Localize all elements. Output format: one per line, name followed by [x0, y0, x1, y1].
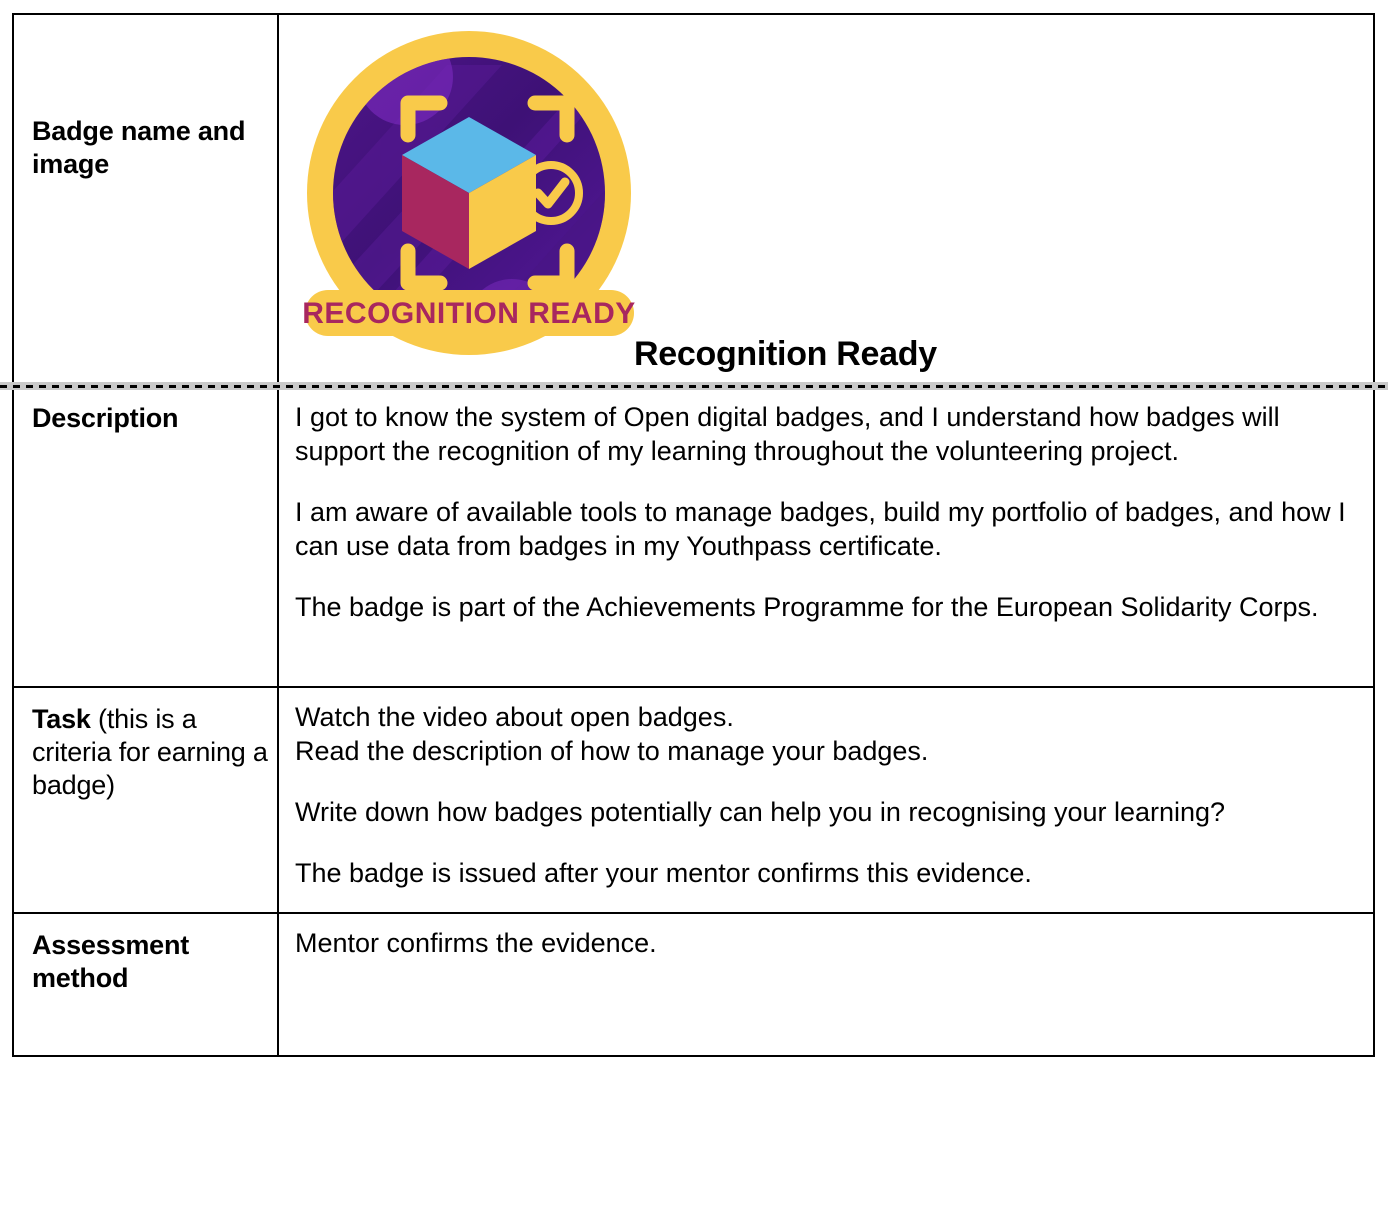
- row-label-text-bold: Task: [32, 704, 91, 734]
- row-label-text: Assessment method: [32, 930, 189, 993]
- task-paragraph-2: Write down how badges potentially can he…: [295, 795, 1357, 829]
- row-label-text: Description: [32, 403, 178, 433]
- table-row-assessment-method: Assessment method Mentor confirms the ev…: [13, 913, 1374, 1056]
- assessment-text: Mentor confirms the evidence.: [295, 926, 1357, 960]
- row-content-badge-name-and-image: RECOGNITION READY Recognition Ready: [278, 14, 1374, 387]
- recognition-ready-badge-icon: RECOGNITION READY: [297, 25, 642, 380]
- table-row-task: Task (this is a criteria for earning a b…: [13, 687, 1374, 913]
- row-content-description: I got to know the system of Open digital…: [278, 387, 1374, 687]
- task-line-1: Watch the video about open badges.: [295, 700, 1357, 734]
- task-paragraph-3: The badge is issued after your mentor co…: [295, 856, 1357, 890]
- row-label-assessment-method: Assessment method: [13, 913, 278, 1056]
- row-label-task: Task (this is a criteria for earning a b…: [13, 687, 278, 913]
- table-row-description: Description I got to know the system of …: [13, 387, 1374, 687]
- task-paragraph-1: Watch the video about open badges. Read …: [295, 700, 1357, 768]
- row-label-description: Description: [13, 387, 278, 687]
- document-page: Badge name and image: [0, 0, 1388, 1226]
- badge-banner-text: RECOGNITION READY: [302, 297, 636, 330]
- row-content-task: Watch the video about open badges. Read …: [278, 687, 1374, 913]
- row-label-badge-name-and-image: Badge name and image: [13, 14, 278, 387]
- description-paragraph-3: The badge is part of the Achievements Pr…: [295, 590, 1357, 624]
- badge-art-wrapper: RECOGNITION READY Recognition Ready: [279, 15, 1373, 386]
- description-paragraph-2: I am aware of available tools to manage …: [295, 495, 1357, 563]
- row-label-text: Badge name and image: [32, 116, 245, 179]
- table-row-badge-name-and-image: Badge name and image: [13, 14, 1374, 387]
- description-paragraph-1: I got to know the system of Open digital…: [295, 400, 1357, 468]
- task-line-2: Read the description of how to manage yo…: [295, 734, 1357, 768]
- badge-specification-table: Badge name and image: [12, 13, 1375, 1057]
- badge-title: Recognition Ready: [634, 333, 937, 376]
- row-content-assessment-method: Mentor confirms the evidence.: [278, 913, 1374, 1056]
